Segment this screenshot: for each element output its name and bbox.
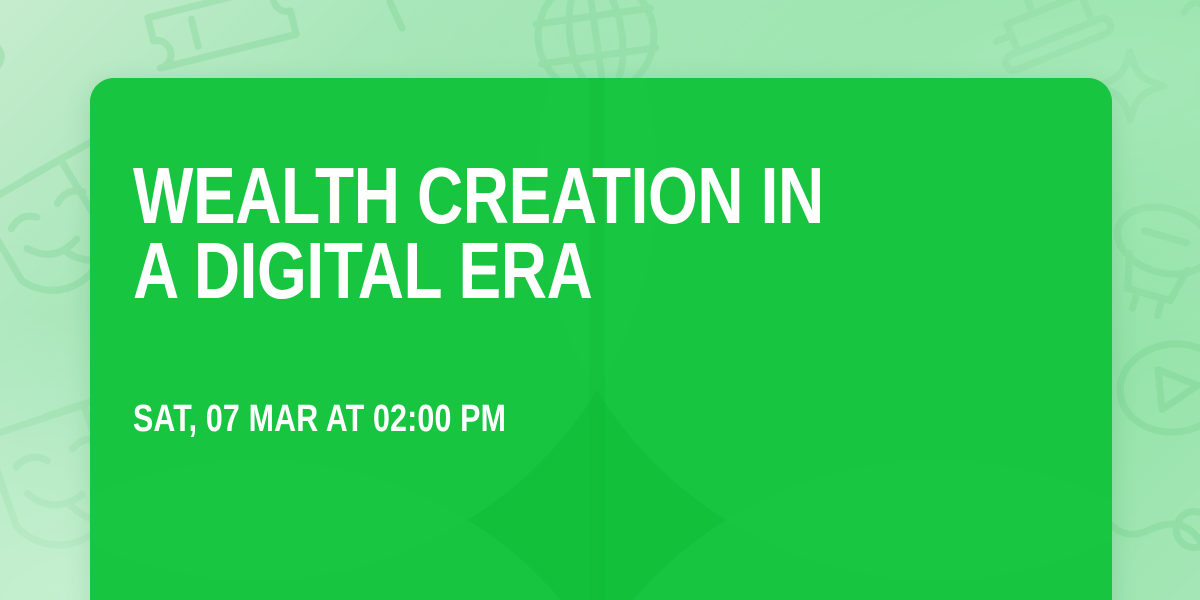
play-button-icon bbox=[1116, 339, 1200, 438]
podium-icon bbox=[974, 0, 1113, 73]
event-date: Sat, 07 Mar at 02:00 PM bbox=[133, 400, 506, 438]
confetti-icon bbox=[0, 44, 1, 66]
event-card: Wealth Creation in a Digital Era Sat, 07… bbox=[90, 78, 1112, 600]
card-content: Wealth Creation in a Digital Era Sat, 07… bbox=[133, 78, 1072, 600]
confetti-icon bbox=[390, 2, 402, 28]
ticket-icon bbox=[148, 0, 296, 68]
event-title: Wealth Creation in a Digital Era bbox=[133, 158, 837, 308]
event-banner: Wealth Creation in a Digital Era Sat, 07… bbox=[0, 0, 1200, 600]
microphone-icon bbox=[1098, 197, 1200, 325]
confetti-icon bbox=[1184, 3, 1200, 12]
